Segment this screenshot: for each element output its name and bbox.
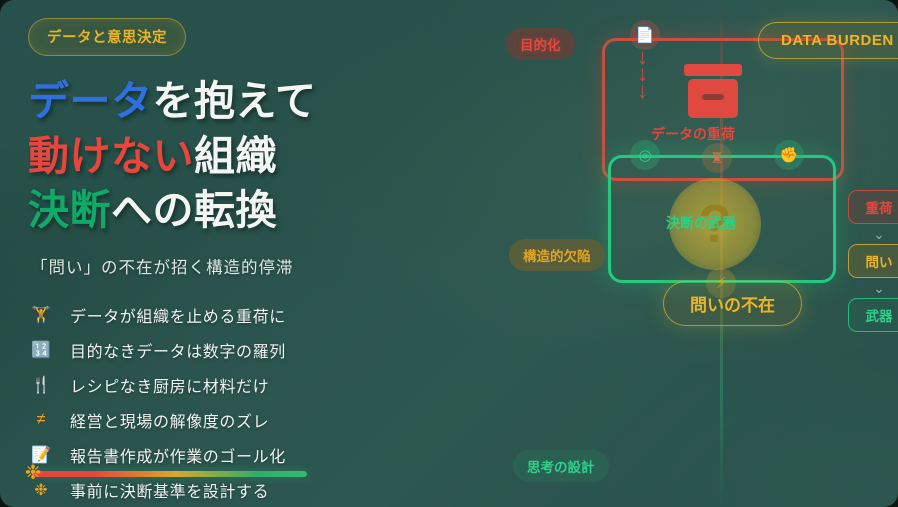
subtitle: 「問い」の不在が招く構造的停滞 <box>31 254 458 278</box>
tag-kouzouteki-kekkan: 構造的欠陥 <box>509 239 605 271</box>
list-item: ❉ 事前に決断基準を設計する <box>28 473 458 507</box>
progress-ruler: ❉ <box>32 471 307 477</box>
numbered-list-icon: 🔢 <box>28 337 54 363</box>
weapon-label: 決断の武器 <box>666 213 736 233</box>
tag-shikou-no-sekkei: 思考の設計 <box>513 450 609 482</box>
stage-chain-item-weapon: 武器 <box>848 298 898 332</box>
stage-chain: 重荷 ⌄ 問い ⌄ 武器 <box>848 190 898 332</box>
tag-data-burden: DATA BURDEN <box>758 22 898 59</box>
list-item-label: レシピなき厨房に材料だけ <box>70 373 269 397</box>
document-icon: 📄 <box>630 20 660 50</box>
list-item: 📝 報告書作成が作業のゴール化 <box>28 438 458 472</box>
kettlebell-icon: 🏋 <box>28 302 54 328</box>
chevron-down-icon: ⌄ <box>848 224 898 244</box>
list-item: 🔢 目的なきデータは数字の羅列 <box>28 333 458 367</box>
fork-knife-icon: 🍴 <box>28 372 54 398</box>
crown-icon: ♜ <box>702 143 732 173</box>
crate-icon-svg <box>680 64 746 118</box>
left-column: データと意思決定 データを抱えて 動けない組織 決断への転換 「問い」の不在が招… <box>28 18 458 507</box>
list-item-label: 事前に決断基準を設計する <box>70 478 269 502</box>
headline-rest-3: への転換 <box>111 187 277 233</box>
crate-icon <box>680 64 746 118</box>
headline-rest-2: 組織 <box>194 133 277 179</box>
list-item: ≠ 経営と現場の解像度のズレ <box>28 403 458 437</box>
burden-label: データの重荷 <box>651 124 735 144</box>
tag-mokutekika: 目的化 <box>506 28 575 60</box>
fist-icon: ✊ <box>774 140 804 170</box>
stage-chain-item-burden: 重荷 <box>848 190 898 224</box>
list-item: 🏋 データが組織を止める重荷に <box>28 298 458 332</box>
headline-accent-1: データ <box>28 78 153 124</box>
not-equal-icon: ≠ <box>28 407 54 433</box>
headline-line-2: 動けない組織 <box>28 129 458 184</box>
stage-chain-item-question: 問い <box>848 244 898 278</box>
list-item-label: 経営と現場の解像度のズレ <box>70 408 269 432</box>
chevron-down-icon: ⌄ <box>848 278 898 298</box>
headline-rest-1: を抱えて <box>153 78 317 124</box>
target-icon: ◎ <box>630 140 660 170</box>
list-item-label: データが組織を止める重荷に <box>70 303 286 327</box>
crosshair-icon: ❉ <box>22 462 44 484</box>
concept-diagram: ↓↓↓ ? 📄 ◎ ✊ ♜ ⚡ データの重荷 決断の武器 目的化 構造的欠陥 思… <box>480 0 898 507</box>
headline-line-3: 決断への転換 <box>28 183 458 238</box>
down-arrows-icon: ↓↓↓ <box>637 48 648 99</box>
list-item: 🍴 レシピなき厨房に材料だけ <box>28 368 458 402</box>
headline-accent-3: 決断 <box>28 187 111 233</box>
headline-accent-2: 動けない <box>28 133 194 179</box>
headline-block: データを抱えて 動けない組織 決断への転換 <box>28 74 458 238</box>
list-item-label: 報告書作成が作業のゴール化 <box>70 443 286 467</box>
slide-canvas: データと意思決定 データを抱えて 動けない組織 決断への転換 「問い」の不在が招… <box>0 0 898 507</box>
tag-toi-no-fuzai: 問いの不在 <box>663 281 802 326</box>
headline-line-1: データを抱えて <box>28 74 458 129</box>
eyebrow-badge: データと意思決定 <box>28 18 186 56</box>
list-item-label: 目的なきデータは数字の羅列 <box>70 338 286 362</box>
